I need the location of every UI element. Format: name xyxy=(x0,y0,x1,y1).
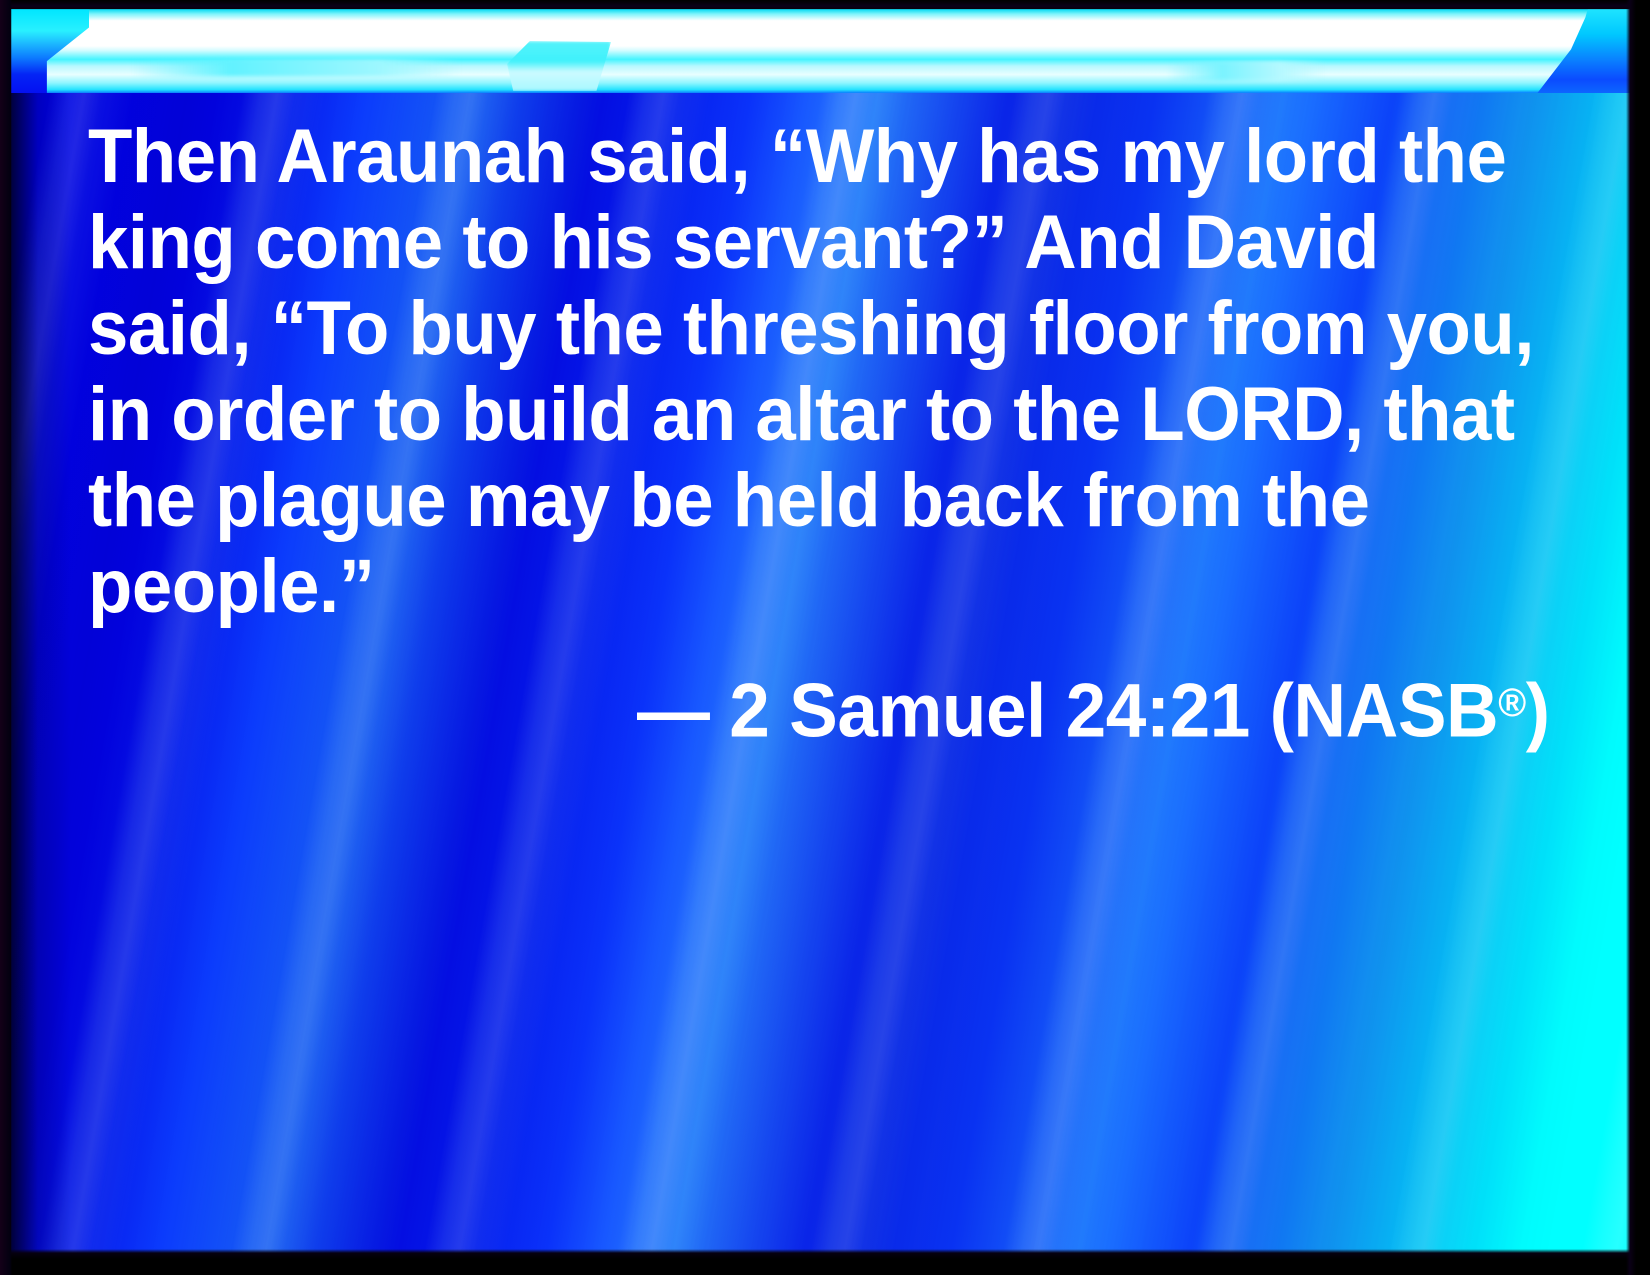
registered-trademark-icon: ® xyxy=(1499,681,1526,725)
verse-text-block: Then Araunah said, “Why has my lord the … xyxy=(88,114,1560,753)
verse-line-3: said, “To buy the threshing floor from y… xyxy=(88,286,1494,372)
verse-line-2: king come to his servant?” And David xyxy=(88,200,1494,286)
top-highlight-band xyxy=(11,9,1631,93)
verse-citation: — 2 Samuel 24:21 (NASB®) xyxy=(637,662,1550,753)
citation-row: — 2 Samuel 24:21 (NASB®) xyxy=(88,662,1560,753)
slide-background: Then Araunah said, “Why has my lord the … xyxy=(11,9,1631,1256)
top-band-cyan-streak-right xyxy=(1166,61,1326,81)
verse-line-4: in order to build an altar to the LORD, … xyxy=(88,372,1494,458)
top-band-cyan-streak-left xyxy=(131,59,461,77)
top-band-right-bevel xyxy=(1511,9,1631,93)
left-edge-shading xyxy=(11,9,71,1256)
top-band-left-bevel xyxy=(11,9,89,93)
verse-line-1: Then Araunah said, “Why has my lord the xyxy=(88,114,1494,200)
verse-line-5: the plague may be held back from the xyxy=(88,458,1494,544)
verse-slide: Then Araunah said, “Why has my lord the … xyxy=(0,0,1650,1275)
citation-prefix: — 2 Samuel 24:21 (NASB xyxy=(637,669,1498,754)
top-band-cyan-blob xyxy=(507,41,611,91)
citation-suffix: ) xyxy=(1526,669,1550,754)
verse-line-6: people.” xyxy=(88,544,1494,630)
